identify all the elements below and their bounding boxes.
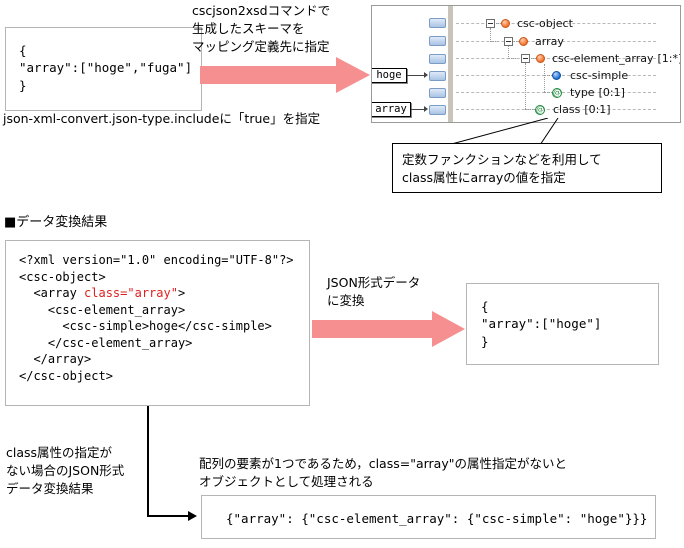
mapping-port[interactable] [429,88,446,98]
tree-node-cardinality: [1:*] [658,52,682,65]
mapping-port[interactable] [429,71,446,81]
mapping-port[interactable] [429,18,446,28]
tree-node-csc-element-array[interactable]: csc-element_array[1:*] [552,52,681,65]
class-attribute-callout: 定数ファンクションなどを利用して class属性にarrayの値を指定 [392,143,662,193]
tree-line [525,109,535,110]
tree-line [525,63,526,109]
tree-line [544,92,552,93]
source-node-label: hoge [376,69,401,81]
tree-node-label: array [535,35,564,48]
tree-expander-array[interactable] [504,37,513,46]
xml-line-5: <csc-simple>hoge</csc-simple> [19,319,272,333]
tree-splitter[interactable] [448,6,453,122]
xml-result-box: <?xml version="1.0" encoding="UTF-8"?> <… [5,240,310,406]
json-convert-note: JSON形式データ に変換 [327,274,420,310]
json-output-box: { "array":["hoge"] } [466,283,659,365]
include-property-note: json-xml-convert.json-type.includeに「true… [3,110,320,128]
tree-node-cardinality: [0:1] [599,86,625,99]
bottom-json-code: {"array": {"csc-element_array": {"csc-si… [226,510,647,527]
schema-mapping-note: cscjson2xsdコマンドで 生成したスキーマを マッピング定義先に指定 [192,2,330,55]
tree-node-type[interactable]: type[0:1] [570,86,625,99]
section-heading: ■データ変換結果 [4,214,107,232]
pink-arrow-top [200,55,372,95]
source-connector-arrow [424,72,428,78]
xml-line-8: </csc-object> [19,369,113,383]
tree-line [490,28,491,42]
tree-node-csc-simple[interactable]: csc-simple [570,69,628,82]
bottom-json-box: {"array": {"csc-element_array": {"csc-si… [201,495,656,539]
json-output-code: { "array":["hoge"] } [481,298,601,350]
class-attribute-callout-text: 定数ファンクションなどを利用して class属性にarrayの値を指定 [402,151,602,187]
elbow-connector-arrowhead [188,511,197,521]
tree-line [544,75,552,76]
tree-node-cardinality: [0:1] [584,103,610,116]
source-connector-line [407,75,425,76]
attribute-glyph: @ [553,88,561,97]
xml-line-2: <csc-object> [19,270,106,284]
element-icon [501,19,510,28]
json-input-box: { "array":["hoge","fuga"] } [5,27,202,111]
xml-line-3-suffix: > [178,286,185,300]
xml-line-1: <?xml version="1.0" encoding="UTF-8"?> [19,253,294,267]
source-connector-line [411,109,425,110]
callout-leader-lines [440,118,630,146]
tree-node-label: csc-simple [570,69,628,82]
no-class-attribute-note: class属性の指定が ない場合のJSON形式 データ変換結果 [6,444,124,497]
simple-element-icon [552,71,561,80]
tree-expander-csc-element-array[interactable] [521,54,530,63]
xml-line-6: </csc-element_array> [19,336,192,350]
tree-node-class[interactable]: class[0:1] [553,103,611,116]
mapping-port[interactable] [429,54,446,64]
elbow-connector-horizontal [147,515,189,517]
mapping-port[interactable] [429,105,446,115]
tree-node-label: class [553,103,580,116]
mapping-port[interactable] [429,36,446,46]
json-input-code: { "array":["hoge","fuga"] } [19,42,192,94]
tree-node-label: csc-object [517,17,573,30]
object-processing-note: 配列の要素が1つであるため，class="array"の属性指定がないと オブジ… [199,455,567,491]
pink-arrow-json [312,310,467,348]
tree-line [508,58,516,59]
element-icon [536,54,545,63]
source-node-label: array [375,103,407,115]
tree-node-csc-object[interactable]: csc-object [517,17,573,30]
tree-node-array[interactable]: array [535,35,564,48]
tree-node-label: csc-element_array [552,52,654,65]
element-icon [519,37,528,46]
source-node-hoge[interactable]: hoge [371,68,407,83]
tree-line [544,64,545,92]
elbow-connector-vertical [147,406,149,517]
source-node-array[interactable]: array [371,102,411,117]
xml-class-attribute-highlight: class="array" [84,286,178,300]
tree-line [490,41,498,42]
source-connector-arrow [424,106,428,112]
xml-line-4: <csc-element_array> [19,303,185,317]
xml-line-3-prefix: <array [19,286,84,300]
attribute-icon: @ [535,105,545,115]
xml-result-code: <?xml version="1.0" encoding="UTF-8"?> <… [19,252,294,384]
schema-tree-panel[interactable]: hoge array csc-object array csc-element_… [371,5,681,123]
tree-expander-csc-object[interactable] [486,19,495,28]
tree-node-label: type [570,86,595,99]
attribute-icon: @ [552,88,562,98]
attribute-glyph: @ [536,105,544,114]
xml-line-7: </array> [19,352,91,366]
